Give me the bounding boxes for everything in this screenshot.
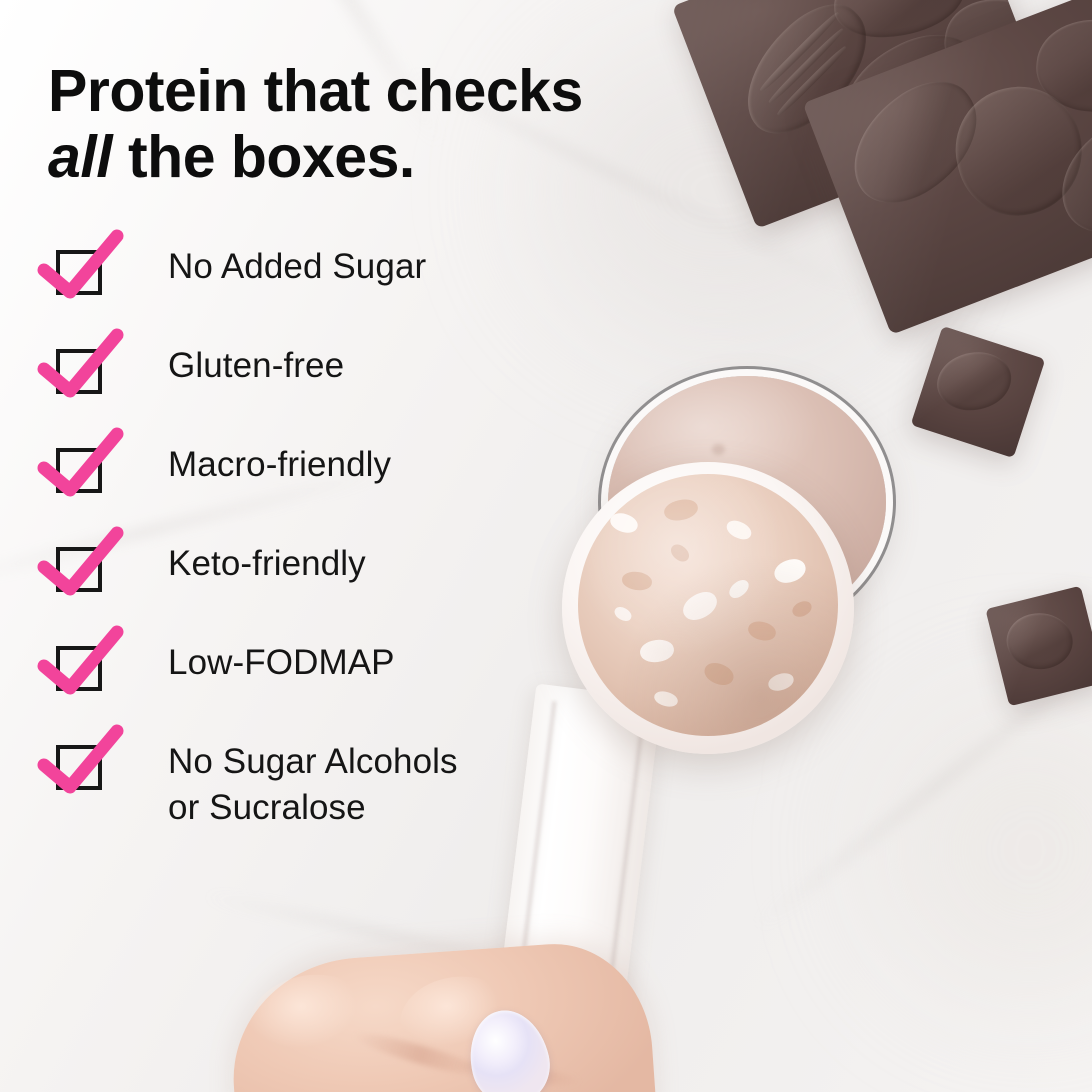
checklist-item-low-fodmap: Low-FODMAP [56, 640, 616, 739]
shake-bubble [712, 444, 725, 455]
headline-emphasis: all [48, 124, 112, 190]
checkbox-checked-icon [56, 547, 102, 592]
checklist-item-no-added-sugar: No Added Sugar [56, 244, 616, 343]
chocolate-piece-relief [1003, 609, 1076, 674]
checklist-item-gluten-free: Gluten-free [56, 343, 616, 442]
checkbox-checked-icon [56, 448, 102, 493]
checklist-item-keto-friendly: Keto-friendly [56, 541, 616, 640]
checkbox-checked-icon [56, 349, 102, 394]
chocolate-piece-relief [937, 352, 1011, 410]
protein-powder [578, 474, 838, 736]
powder-shading [578, 474, 838, 736]
headline-line-2-rest: the boxes. [112, 124, 415, 190]
checklist-item-label: Macro-friendly [168, 442, 391, 488]
checkbox-checked-icon [56, 250, 102, 295]
product-marketing-image: Protein that checks all the boxes. No Ad… [0, 0, 1092, 1092]
checkbox-checked-icon [56, 745, 102, 790]
checklist-item-label: Gluten-free [168, 343, 344, 389]
checkbox-checked-icon [56, 646, 102, 691]
checklist-item-macro-friendly: Macro-friendly [56, 442, 616, 541]
page-title: Protein that checks all the boxes. [48, 58, 668, 190]
checklist-item-label: Low-FODMAP [168, 640, 395, 686]
checklist-item-label: Keto-friendly [168, 541, 366, 587]
headline-line-1: Protein that checks [48, 58, 583, 124]
benefit-checklist: No Added Sugar Gluten-free Macro-friendl… [56, 244, 616, 831]
checklist-item-label: No Sugar Alcohols or Sucralose [168, 739, 458, 831]
checklist-item-no-sugar-alcohols: No Sugar Alcohols or Sucralose [56, 739, 616, 831]
checklist-item-label: No Added Sugar [168, 244, 426, 290]
